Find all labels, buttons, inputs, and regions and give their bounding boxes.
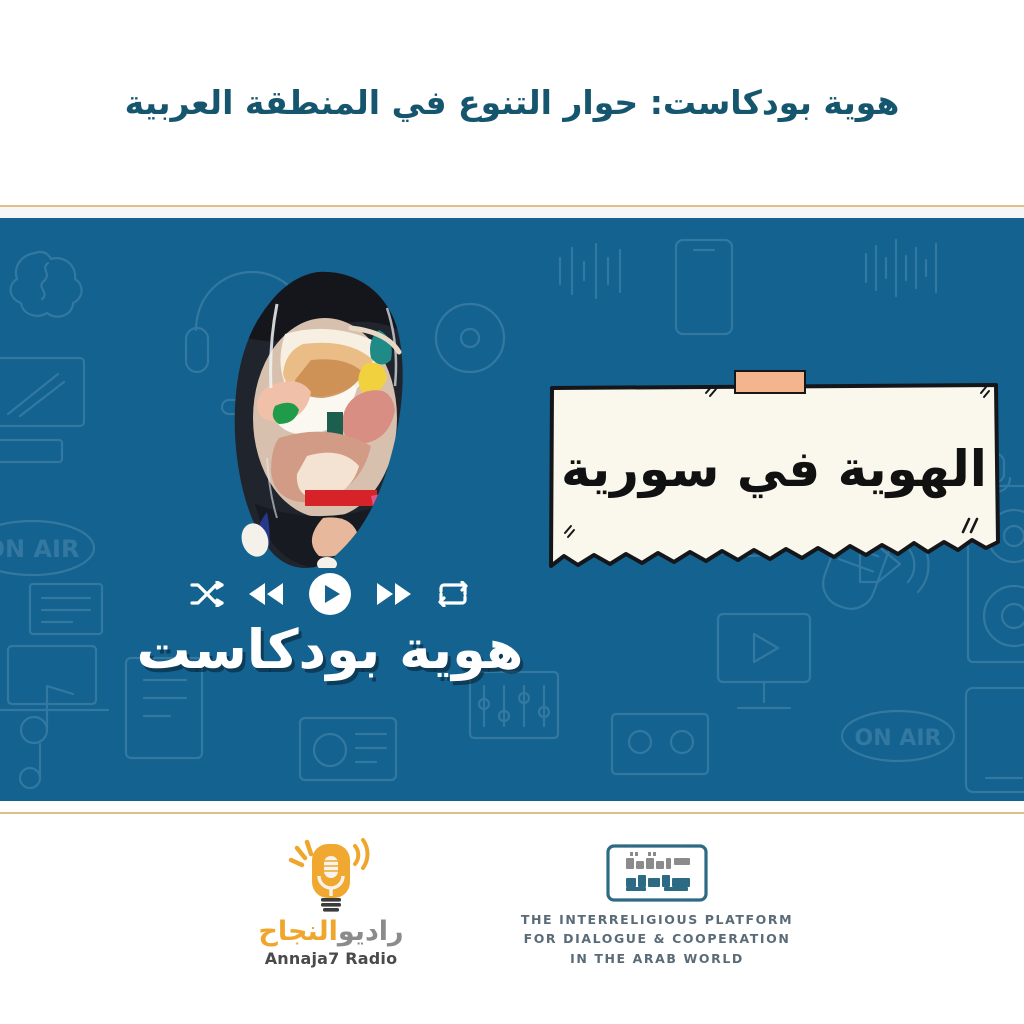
on-air-badge-bottom: ON AIR: [842, 711, 954, 761]
smartphone-doodle: [676, 240, 732, 334]
play-icon[interactable]: [308, 572, 352, 616]
scuff-mark-bottom-left: [560, 524, 576, 540]
page-title: هوية بودكاست: حوار التنوع في المنطقة الع…: [125, 78, 900, 128]
tagline-line-1: THE INTERRELIGIOUS PLATFORM: [512, 910, 802, 929]
soundwave-doodle-mid: [560, 244, 620, 298]
radio-doodle: [300, 718, 396, 780]
repeat-icon[interactable]: [436, 581, 470, 607]
annaja7-radio-logo[interactable]: راديوالنجاح Annaja7 Radio: [236, 834, 426, 968]
tablet-doodle: [966, 688, 1024, 792]
radio-logo-english: Annaja7 Radio: [236, 949, 426, 968]
scuff-mark-top-left: [700, 384, 718, 400]
svg-text:ON AIR: ON AIR: [0, 535, 79, 563]
fast-forward-icon[interactable]: [375, 581, 413, 607]
abstract-face-artwork: [215, 268, 430, 568]
mixer-doodle: [470, 672, 558, 738]
tagline-line-2: FOR DIALOGUE & COOPERATION: [512, 929, 802, 948]
podcast-episode-card: هوية بودكاست: حوار التنوع في المنطقة الع…: [0, 0, 1024, 1024]
screen-doodle: [718, 614, 810, 708]
laptop-doodle: [0, 646, 108, 710]
radio-logo-arabic: راديوالنجاح: [236, 916, 426, 947]
platform-wordmark-icon: [604, 842, 710, 904]
platform-tagline: THE INTERRELIGIOUS PLATFORM FOR DIALOGUE…: [512, 910, 802, 968]
brain-doodle: [11, 252, 82, 317]
monitor-doodle: [0, 358, 84, 462]
episode-title: الهوية في سورية: [548, 440, 1000, 498]
header: هوية بودكاست: حوار التنوع في المنطقة الع…: [0, 0, 1024, 205]
episode-title-card: الهوية في سورية: [548, 382, 1000, 582]
tape-shine-icon: [977, 385, 991, 401]
soundwave-doodle-top: [866, 240, 936, 296]
notebook-doodle: [30, 584, 102, 634]
on-air-badge-left: ON AIR: [0, 521, 94, 575]
scuff-mark-bottom-right: [960, 516, 982, 538]
vinyl-doodle: [436, 304, 504, 372]
rewind-icon[interactable]: [247, 581, 285, 607]
shuffle-icon[interactable]: [190, 581, 224, 607]
music-note-doodle: [20, 686, 73, 788]
header-gap: [0, 207, 1024, 218]
cassette-doodle: [612, 714, 708, 774]
tagline-line-3: IN THE ARAB WORLD: [512, 949, 802, 968]
footer: راديوالنجاح Annaja7 Radio: [0, 814, 1024, 1024]
tape-strip: [734, 370, 806, 394]
svg-text:ON AIR: ON AIR: [855, 726, 942, 751]
dialogue-platform-logo[interactable]: THE INTERRELIGIOUS PLATFORM FOR DIALOGUE…: [512, 842, 802, 968]
bulb-microphone-icon: [283, 834, 379, 920]
media-controls[interactable]: [190, 570, 470, 618]
podcast-wordmark: هوية بودكاست: [120, 618, 540, 681]
